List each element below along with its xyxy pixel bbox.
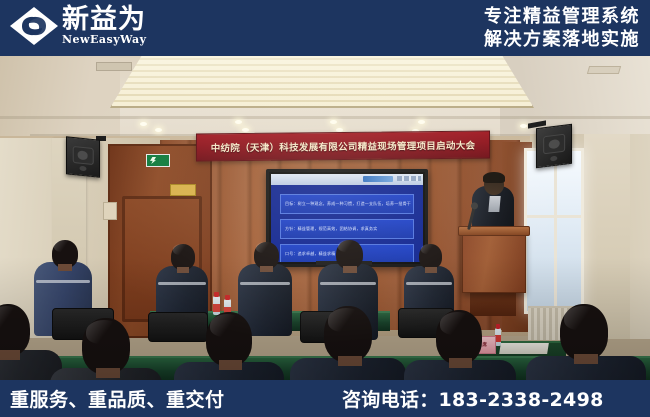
downlight-3 [235, 120, 242, 124]
window-controls[interactable] [397, 176, 421, 181]
newEasyWay-diamond-logo-icon [8, 5, 60, 47]
hair-highlight [210, 314, 244, 337]
hair-highlight [338, 240, 359, 252]
slide-line-2-text: 方针：精益管理，规范高效，团结协调，求真务实 [285, 226, 377, 232]
head-table-documents [499, 343, 549, 354]
presenter-hair [483, 172, 505, 183]
meeting-photo: 中纺院（天津）科技发展有限公司精益现场管理项目启动大会 目标：树立一种观念，养成… [0, 56, 650, 380]
wall-speaker-right [536, 124, 572, 168]
speaker-tweeter-right [550, 155, 557, 161]
ceiling-rim [0, 116, 650, 119]
slide-line-2: 方针：精益管理，规范高效，团结协调，求真务实 [280, 219, 414, 239]
neck [0, 350, 20, 360]
air-vent-left [96, 62, 132, 71]
neck [260, 266, 273, 272]
downlight-2 [155, 128, 162, 132]
hair-highlight [173, 244, 191, 255]
window-mullion-vertical [554, 151, 557, 311]
ceiling-light-panel [110, 56, 534, 108]
footer-tagline: 重服务、重品质、重交付 [10, 385, 225, 412]
folding-chair-2 [148, 312, 208, 342]
header-slogan: 专注精益管理系统 解决方案落地实施 [484, 5, 640, 51]
neck [177, 267, 189, 273]
hair-highlight [256, 242, 275, 253]
footer-band: 重服务、重品质、重交付 咨询电话：183-2338-2498 [0, 380, 650, 417]
neck [343, 266, 357, 273]
slide-line-3-text: 口号：追求卓越，精益求精 [285, 251, 335, 257]
hair-highlight [421, 244, 438, 254]
uniform-stripe [240, 282, 290, 285]
downlight-7 [418, 120, 425, 124]
downlight-1 [140, 122, 147, 126]
podium [462, 231, 526, 293]
event-banner: 中纺院（天津）科技发展有限公司精益现场管理项目启动大会 [196, 130, 490, 161]
wall-speaker-left [66, 136, 100, 178]
slide-toolbar [271, 174, 423, 185]
door-sign-plate [170, 184, 196, 196]
footer-contact-label: 咨询电话： [342, 389, 439, 411]
neck [449, 358, 472, 368]
light-switch[interactable] [103, 202, 117, 220]
hair-highlight [440, 312, 474, 335]
speaker-cone-right [543, 134, 565, 155]
neck [338, 356, 362, 366]
logo-english-name: NewEasyWay [62, 34, 147, 46]
speaker-tweeter-left [79, 166, 86, 172]
hair-highlight [54, 240, 74, 252]
hair-highlight [564, 306, 600, 330]
neck [425, 267, 437, 273]
brand-logo[interactable]: 新益为 NewEasyWay [8, 5, 147, 47]
air-vent-right [587, 66, 621, 74]
event-banner-text: 中纺院（天津）科技发展有限公司精益现场管理项目启动大会 [211, 138, 476, 155]
water-bottle-1 [213, 296, 220, 315]
downlight-4 [242, 128, 249, 132]
logo-chinese-name: 新益为 [62, 7, 147, 33]
neck [58, 264, 72, 271]
uniform-stripe [158, 282, 206, 285]
neck [574, 354, 598, 364]
neck [96, 368, 120, 378]
footer-contact-phone: 183-2338-2498 [439, 389, 604, 411]
slide-line-1: 目标：树立一种观念，养成一种习惯，打造一支队伍，培养一批骨干 [280, 194, 414, 214]
header-band: 新益为 NewEasyWay 专注精益管理系统 解决方案落地实施 [0, 0, 650, 56]
slogan-line-2: 解决方案落地实施 [484, 28, 640, 51]
promotional-banner-image: 新益为 NewEasyWay 专注精益管理系统 解决方案落地实施 [0, 0, 650, 417]
downlight-9 [520, 124, 527, 128]
hair-highlight [86, 320, 122, 344]
downlight-5 [330, 120, 337, 124]
footer-contact[interactable]: 咨询电话：183-2338-2498 [342, 385, 604, 412]
slogan-line-1: 专注精益管理系统 [484, 5, 640, 28]
uniform-stripe [36, 280, 90, 283]
speaker-cone-left [73, 146, 94, 165]
slide-logo [363, 176, 393, 182]
emergency-exit-sign-icon [146, 154, 170, 167]
slide-line-1-text: 目标：树立一种观念，养成一种习惯，打造一支队伍，培养一批骨干 [285, 201, 411, 207]
hair-highlight [328, 308, 364, 332]
presenter-shirt [488, 196, 500, 212]
window [524, 148, 584, 314]
neck [219, 360, 242, 370]
uniform-stripe [406, 282, 452, 285]
uniform-stripe [320, 282, 376, 285]
window-mullion-horizontal [527, 215, 581, 218]
